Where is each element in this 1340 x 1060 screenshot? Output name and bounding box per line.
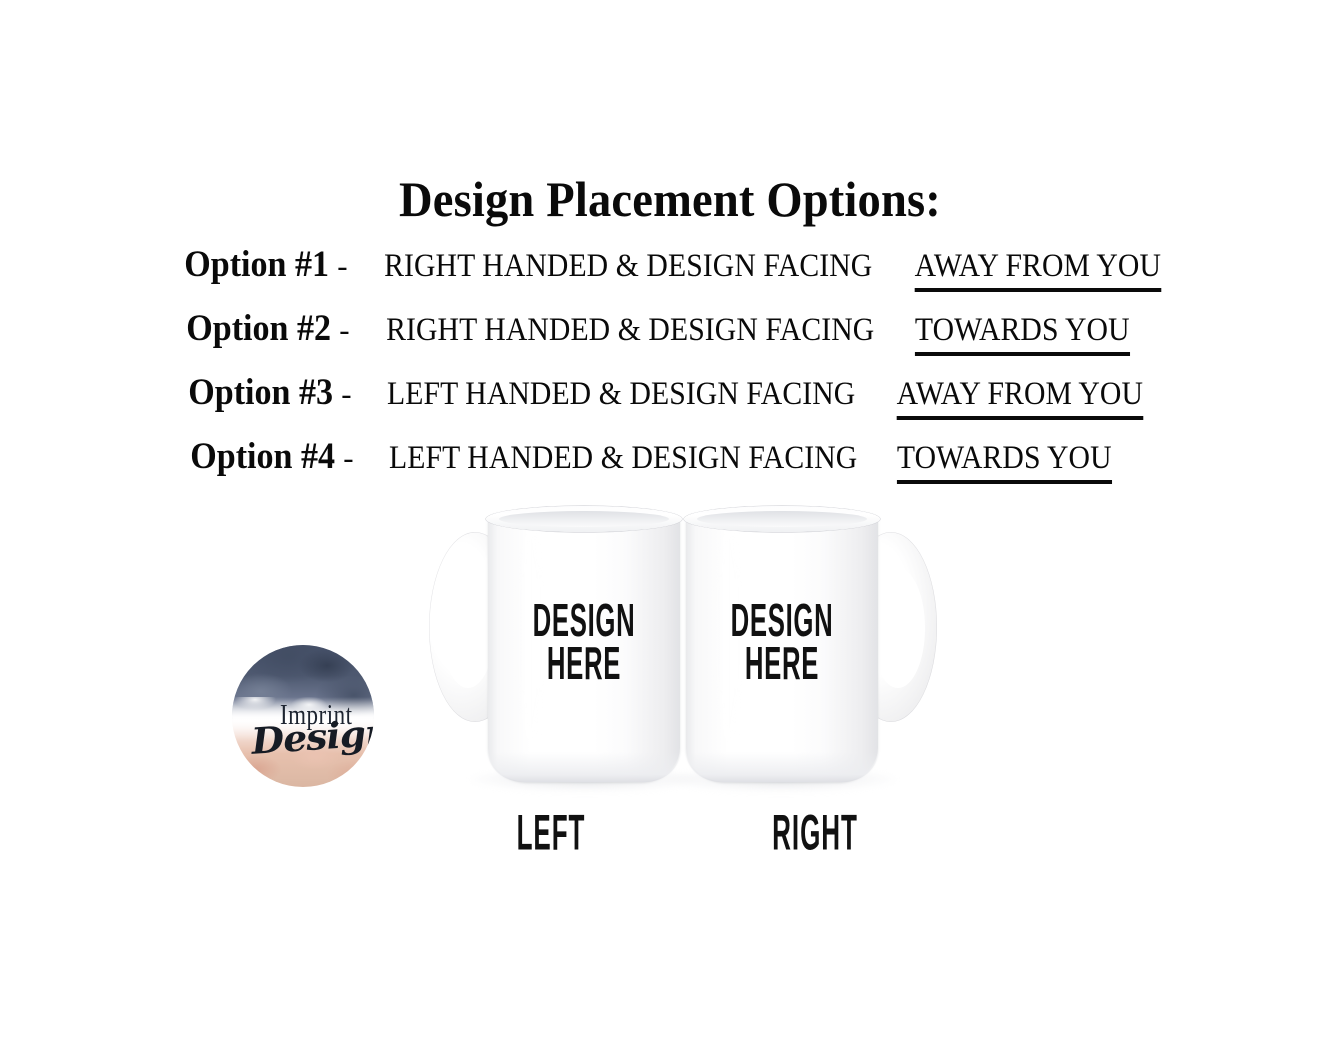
option-emphasis: AWAY FROM YOU xyxy=(915,248,1161,292)
mug-art-line-2: HERE xyxy=(521,645,648,685)
option-dash: - xyxy=(339,376,360,412)
mug-caption-right: RIGHT xyxy=(738,804,893,862)
option-row: Option #4 - LEFT HANDED & DESIGN FACING … xyxy=(178,435,1160,499)
mug-artwork-placeholder: DESIGN HERE xyxy=(488,602,680,680)
option-number-label: Option #1 xyxy=(184,243,329,286)
option-dash: - xyxy=(341,440,362,476)
option-number-label: Option #4 xyxy=(190,435,335,478)
brand-logo: Imprint Designs xyxy=(232,645,374,787)
page-title: Design Placement Options: xyxy=(47,170,1293,228)
option-number-label: Option #2 xyxy=(186,307,331,350)
option-row: Option #2 - RIGHT HANDED & DESIGN FACING… xyxy=(178,307,1160,371)
option-number-label: Option #3 xyxy=(188,371,333,414)
option-row: Option #1 - RIGHT HANDED & DESIGN FACING… xyxy=(178,243,1160,307)
options-list: Option #1 - RIGHT HANDED & DESIGN FACING… xyxy=(178,243,1160,499)
mug-rim xyxy=(486,506,682,532)
option-dash: - xyxy=(335,248,356,284)
mug-art-line-2: HERE xyxy=(719,645,846,685)
option-description: LEFT HANDED & DESIGN FACING xyxy=(389,440,857,477)
option-emphasis: TOWARDS YOU xyxy=(915,312,1130,356)
option-emphasis: AWAY FROM YOU xyxy=(897,376,1143,420)
mug-left: DESIGN HERE LEFT xyxy=(426,504,676,804)
option-emphasis: TOWARDS YOU xyxy=(897,440,1112,484)
mug-art-line-1: DESIGN xyxy=(521,602,648,642)
mug-caption-left: LEFT xyxy=(474,804,629,862)
option-description: RIGHT HANDED & DESIGN FACING xyxy=(386,312,874,349)
option-description: RIGHT HANDED & DESIGN FACING xyxy=(384,248,872,285)
mug-stage: DESIGN HERE LEFT DESIGN HERE RIGHT xyxy=(0,498,1340,898)
mug-art-line-1: DESIGN xyxy=(719,602,846,642)
option-description: LEFT HANDED & DESIGN FACING xyxy=(387,376,855,413)
mug-rim xyxy=(684,506,880,532)
option-dash: - xyxy=(337,312,358,348)
mug-artwork-placeholder: DESIGN HERE xyxy=(686,602,878,680)
mug-right: DESIGN HERE RIGHT xyxy=(690,504,940,804)
option-row: Option #3 - LEFT HANDED & DESIGN FACING … xyxy=(178,371,1160,435)
